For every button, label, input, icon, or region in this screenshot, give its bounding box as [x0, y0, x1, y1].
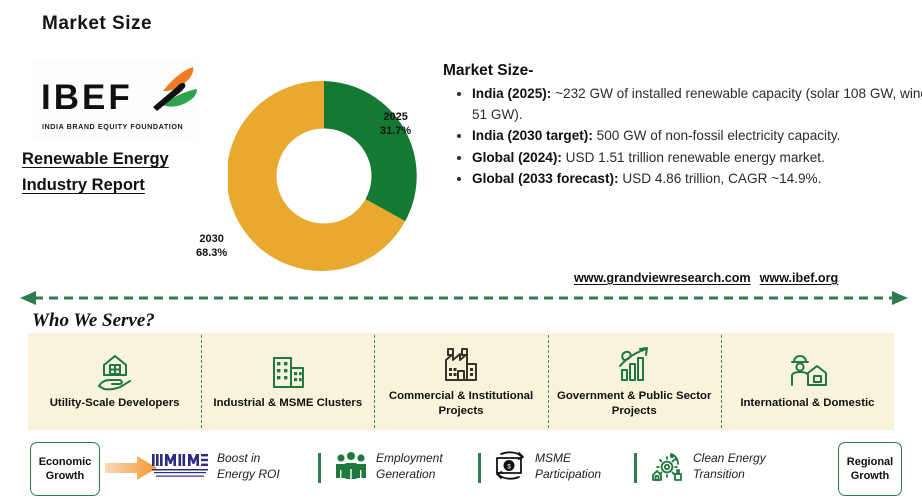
bullet-label: Global (2033 forecast):	[472, 171, 619, 186]
factory-icon	[440, 345, 482, 385]
market-size-bullet: Global (2033 forecast): USD 4.86 trillio…	[472, 169, 922, 190]
who-we-serve-column-utility-scale-developers[interactable]: Utility-Scale Developers	[28, 333, 201, 430]
source-links: www.grandviewresearch.comwww.ibef.org	[574, 271, 838, 285]
bullet-text: USD 1.51 trillion renewable energy marke…	[562, 150, 825, 165]
donut-label-2030: 2030 68.3%	[196, 232, 227, 260]
report-title: Renewable Energy Industry Report	[22, 146, 217, 198]
bullet-label: India (2030 target):	[472, 128, 593, 143]
worker-house-icon	[786, 352, 828, 392]
ibef-logo: IBEF INDIA BRAND EQUITY FOUNDATION	[33, 60, 198, 140]
ibef-bird-icon	[141, 65, 199, 117]
who-we-serve-label: Commercial & Institutional Projects	[374, 389, 547, 419]
flow-item-employment-generation[interactable]: Employment Generation	[333, 450, 443, 482]
who-we-serve-label: Government & Public Sector Projects	[548, 389, 721, 419]
who-we-serve-column-international-domestic[interactable]: International & Domestic	[721, 333, 894, 430]
flow-separator	[634, 453, 637, 483]
house-in-hand-icon	[95, 352, 135, 392]
people-group-icon	[333, 450, 369, 482]
market-size-bullet: India (2030 target): 500 GW of non-fossi…	[472, 126, 922, 147]
donut-label-2025-percent: 31.7%	[380, 124, 411, 138]
bullet-text: 500 GW of non-fossil electricity capacit…	[593, 128, 841, 143]
flow-item-boost-in-energy-roi[interactable]: Boost in Energy ROI	[150, 450, 280, 482]
who-we-serve-column-commercial-institutional-projects[interactable]: Commercial & Institutional Projects	[374, 333, 547, 430]
flow-start-box-economic-growth[interactable]: Economic Growth	[30, 442, 100, 496]
flow-item-label: MSME Participation	[535, 450, 601, 482]
svg-text:$: $	[507, 464, 511, 471]
bullet-label: Global (2024):	[472, 150, 562, 165]
impact-flow-row: Economic Growth	[0, 434, 922, 503]
flow-end-box-regional-growth[interactable]: Regional Growth	[838, 442, 902, 496]
donut-label-2030-name: 2030	[196, 232, 227, 246]
who-we-serve-column-industrial-msme-clusters[interactable]: Industrial & MSME Clusters	[201, 333, 374, 430]
bullet-text: USD 4.86 trillion, CAGR ~14.9%.	[619, 171, 822, 186]
flow-item-label: Boost in Energy ROI	[217, 450, 280, 482]
page-title: Market Size	[42, 13, 152, 35]
money-cycle-icon: $	[492, 450, 528, 482]
section-divider-arrow	[20, 288, 908, 308]
flow-item-msme-participation[interactable]: $ MSME Participation	[492, 450, 601, 482]
market-size-heading: Market Size-	[443, 62, 533, 80]
who-we-serve-column-government-public-sector-projects[interactable]: Government & Public Sector Projects	[548, 333, 721, 430]
who-we-serve-label: Industrial & MSME Clusters	[207, 396, 368, 411]
ibef-logo-wordmark: IBEF	[41, 78, 133, 118]
market-size-bullet: Global (2024): USD 1.51 trillion renewab…	[472, 148, 922, 169]
bullet-label: India (2025):	[472, 86, 551, 101]
msme-logo-icon	[150, 451, 210, 481]
donut-svg	[228, 80, 420, 272]
donut-label-2030-percent: 68.3%	[196, 246, 227, 260]
donut-hole	[277, 129, 372, 224]
clean-energy-gear-icon	[648, 450, 686, 482]
market-size-bullet-list: India (2025): ~232 GW of installed renew…	[455, 84, 922, 191]
market-size-bullet: India (2025): ~232 GW of installed renew…	[472, 84, 922, 125]
who-we-serve-label: Utility-Scale Developers	[44, 396, 186, 411]
market-share-donut-chart	[228, 80, 420, 272]
source-link-ibef[interactable]: www.ibef.org	[760, 271, 839, 285]
office-buildings-icon	[268, 352, 308, 392]
ibef-logo-tagline: INDIA BRAND EQUITY FOUNDATION	[42, 122, 183, 131]
who-we-serve-label: International & Domestic	[734, 396, 880, 411]
flow-item-label: Employment Generation	[376, 450, 443, 482]
rocket-growth-chart-icon	[614, 345, 654, 385]
slide-root: Market Size IBEF INDIA BRAND EQUITY FOUN…	[0, 0, 922, 503]
who-we-serve-band: Utility-Scale Developers	[28, 333, 894, 430]
donut-label-2025-name: 2025	[380, 110, 411, 124]
who-we-serve-title: Who We Serve?	[32, 310, 155, 332]
flow-item-clean-energy-transition[interactable]: Clean Energy Transition	[648, 450, 766, 482]
flow-separator	[478, 453, 481, 483]
donut-label-2025: 2025 31.7%	[380, 110, 411, 138]
source-link-grandviewresearch[interactable]: www.grandviewresearch.com	[574, 271, 751, 285]
flow-separator	[318, 453, 321, 483]
flow-item-label: Clean Energy Transition	[693, 450, 766, 482]
